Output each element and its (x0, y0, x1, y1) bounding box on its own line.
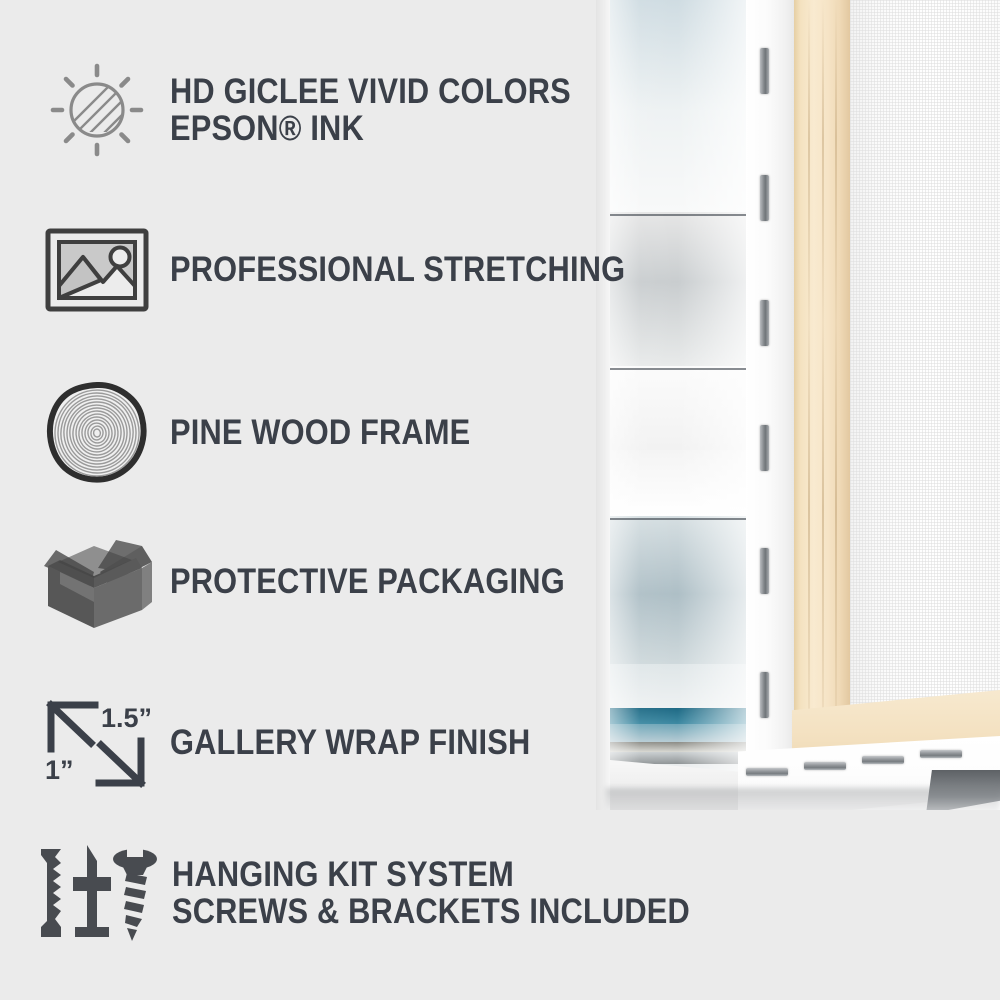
feature-label-stretching: PROFESSIONAL STRETCHING (170, 251, 625, 288)
feature-label-line1: PROFESSIONAL STRETCHING (170, 250, 625, 289)
wrap-depth-label: 1.5” (101, 703, 152, 733)
feature-label-giclee: HD GICLEE VIVID COLORS EPSON® INK (170, 73, 571, 148)
feature-row-pine-frame: PINE WOOD FRAME (38, 378, 511, 488)
feature-label-line1: PROTECTIVE PACKAGING (170, 562, 565, 601)
staple (760, 425, 769, 471)
staple (920, 750, 962, 758)
feature-label-line2: EPSON® INK (170, 110, 571, 147)
staple (760, 672, 769, 718)
feature-row-hanging-kit: HANGING KIT SYSTEM SCREWS & BRACKETS INC… (30, 838, 761, 948)
print-edge-fold-line (610, 368, 746, 370)
feature-label-line1: PINE WOOD FRAME (170, 413, 470, 452)
feature-label-packaging: PROTECTIVE PACKAGING (170, 563, 565, 600)
feature-label-line2: SCREWS & BRACKETS INCLUDED (172, 893, 690, 930)
feature-label-gallery-wrap: GALLERY WRAP FINISH (170, 724, 530, 761)
wood-rings-icon (38, 378, 156, 488)
screws-brackets-icon (30, 838, 158, 948)
feature-list: HD GICLEE VIVID COLORS EPSON® INK PROFES… (0, 0, 620, 1000)
staple (760, 175, 769, 221)
infographic-canvas: HD GICLEE VIVID COLORS EPSON® INK PROFES… (0, 0, 1000, 1000)
wood-grain-line (835, 0, 837, 770)
printed-canvas-edge (610, 0, 746, 800)
pine-stretcher-bar (794, 0, 850, 770)
canvas-wrap-strip (746, 0, 794, 792)
staple (760, 48, 769, 94)
feature-label-pine-frame: PINE WOOD FRAME (170, 414, 470, 451)
feature-row-gallery-wrap: 1.5” 1” GALLERY WRAP FINISH (38, 688, 580, 798)
feature-label-line1: GALLERY WRAP FINISH (170, 723, 530, 762)
canvas-back-texture (850, 0, 1000, 760)
feature-row-giclee: HD GICLEE VIVID COLORS EPSON® INK (38, 55, 626, 165)
feature-label-hanging-kit: HANGING KIT SYSTEM SCREWS & BRACKETS INC… (172, 856, 690, 931)
feature-row-stretching: PROFESSIONAL STRETCHING (38, 215, 687, 325)
staple (760, 300, 769, 346)
print-edge-fold-line (610, 518, 746, 520)
staple (862, 756, 904, 764)
sun-icon (38, 55, 156, 165)
open-box-icon (38, 527, 156, 637)
wood-grain-line (822, 0, 824, 770)
feature-row-packaging: PROTECTIVE PACKAGING (38, 527, 619, 637)
wood-grain-line (808, 0, 810, 770)
framed-picture-icon (38, 215, 156, 325)
staple (804, 762, 846, 770)
feature-label-line1: HANGING KIT SYSTEM (172, 855, 514, 894)
staple (760, 548, 769, 594)
print-edge-shading (610, 0, 746, 800)
wrap-width-label: 1” (45, 755, 74, 785)
staple (746, 768, 788, 776)
wrap-depth-arrows-icon: 1.5” 1” (38, 688, 156, 798)
feature-label-line1: HD GICLEE VIVID COLORS (170, 72, 571, 111)
